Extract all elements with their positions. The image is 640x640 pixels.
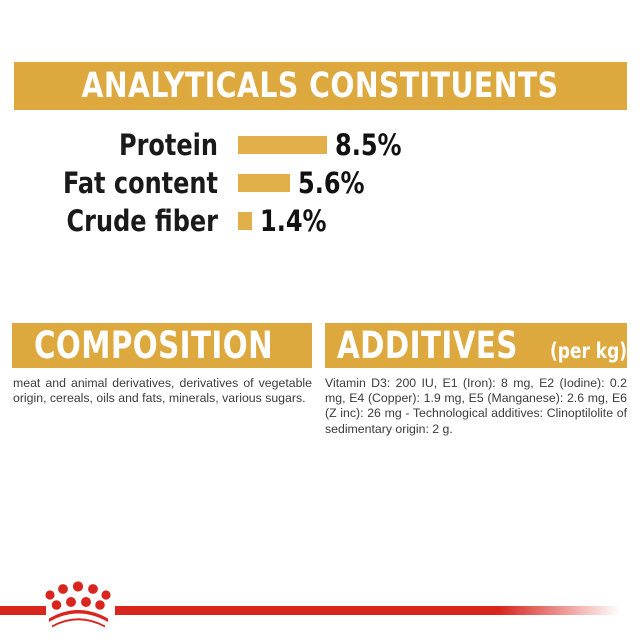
composition-banner: COMPOSITION [12,323,312,368]
nutrient-bar-chart: Protein 8.5% Fat content 5.6% Crude fibe… [0,126,640,240]
nutrient-bar-protein [238,136,327,154]
analyticals-constituents-title: ANALYTICALS CONSTITUENTS [82,69,559,104]
analyticals-constituents-banner: ANALYTICALS CONSTITUENTS [14,62,627,110]
nutrient-bar-fat-content [238,174,290,192]
additives-body-text: Vitamin D3: 200 IU, E1 (Iron): 8 mg, E2 … [325,376,627,437]
nutrient-label-fat-content: Fat content [17,169,218,198]
nutrient-bar-group-fat-content: 5.6% [238,169,370,198]
additives-banner: ADDITIVES (per kg) [325,323,627,368]
footer-rule-right [115,606,640,615]
additives-per-kg-label: (per kg) [550,339,627,363]
royal-canin-crown-logo [44,578,114,628]
nutrient-row-protein: Protein 8.5% [0,126,640,164]
nutrition-panel: ANALYTICALS CONSTITUENTS Protein 8.5% Fa… [0,0,640,640]
nutrient-row-fat-content: Fat content 5.6% [0,164,640,202]
nutrient-value-protein: 8.5% [335,131,402,160]
nutrient-label-crude-fiber: Crude fiber [17,207,218,236]
nutrient-label-protein: Protein [17,131,218,160]
composition-title: COMPOSITION [34,327,273,364]
nutrient-bar-crude-fiber [238,212,252,230]
nutrient-bar-group-protein: 8.5% [238,131,407,160]
additives-title-group: ADDITIVES (per kg) [337,327,635,364]
nutrient-row-crude-fiber: Crude fiber 1.4% [0,202,640,240]
nutrient-bar-group-crude-fiber: 1.4% [238,207,332,236]
nutrient-value-crude-fiber: 1.4% [260,207,327,236]
additives-title: ADDITIVES [337,327,518,364]
footer-rule-left [0,606,46,615]
nutrient-value-fat-content: 5.6% [298,169,365,198]
composition-body-text: meat and animal derivatives, derivatives… [13,376,312,406]
